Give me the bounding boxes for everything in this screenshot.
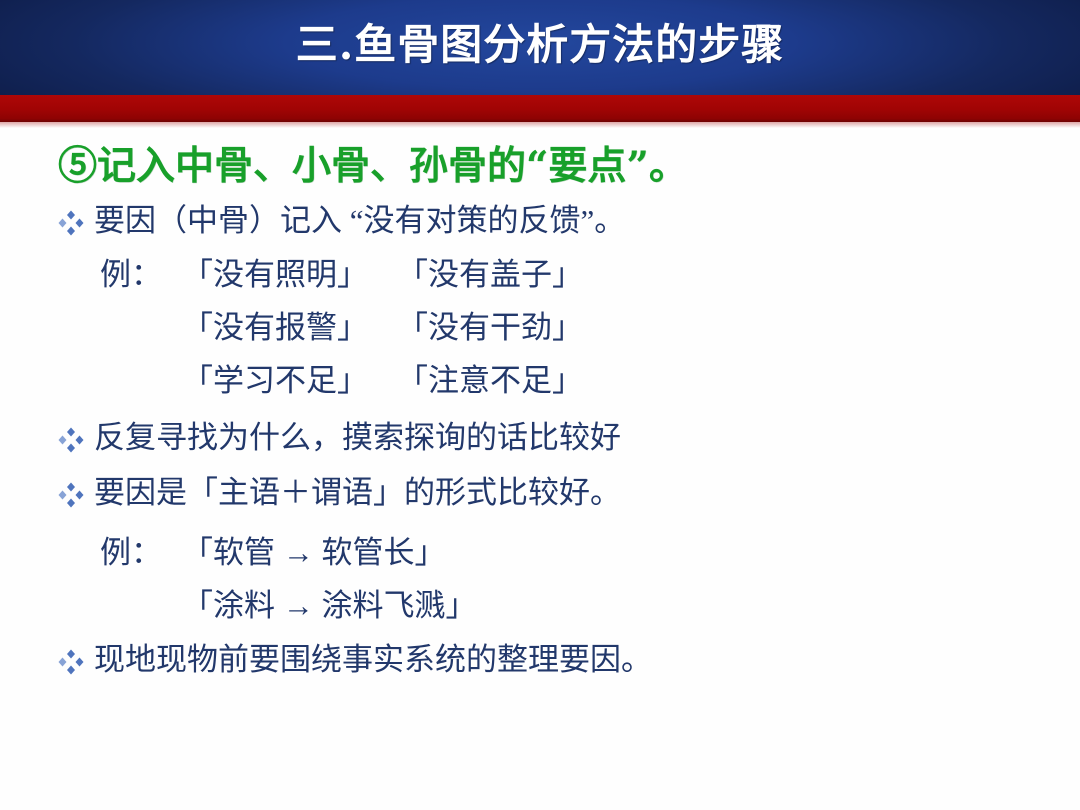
header-accent-bar bbox=[0, 95, 1080, 122]
slide-root: 三.鱼骨图分析方法的步骤 ⑤记入中骨、小骨、孙骨的“要点”。 要因（中骨）记入 … bbox=[0, 0, 1080, 810]
example-row-3: 「学习不足」「注意不足」 bbox=[100, 361, 583, 401]
example-row-1-col2: 「没有盖子」 bbox=[397, 255, 583, 295]
example-row-4: 例：「软管 → 软管长」 bbox=[100, 533, 446, 573]
example-row-3-col1: 「学习不足」 bbox=[182, 361, 397, 401]
example-label-2: 例： bbox=[100, 533, 182, 573]
example-row-1: 例：「没有照明」「没有盖子」 bbox=[100, 255, 583, 295]
diamond-cluster-icon bbox=[58, 473, 88, 507]
diamond-cluster-icon bbox=[58, 640, 88, 674]
bullet-item-3-label: 要因是「主语＋谓语」的形式比较好。 bbox=[94, 473, 621, 513]
bullet-item-4-label: 现地现物前要围绕事实系统的整理要因。 bbox=[94, 640, 652, 680]
example-row-3-col2: 「注意不足」 bbox=[397, 361, 583, 401]
example-row-2-col2: 「没有干劲」 bbox=[397, 308, 583, 348]
slide-content: ⑤记入中骨、小骨、孙骨的“要点”。 要因（中骨）记入 “没有对策的反馈”。 例：… bbox=[0, 128, 1080, 810]
bullet-item-4: 现地现物前要围绕事实系统的整理要因。 bbox=[58, 640, 652, 680]
example-label-1: 例： bbox=[100, 255, 182, 295]
example-row-1-col1: 「没有照明」 bbox=[182, 255, 397, 295]
bullet-item-2-label: 反复寻找为什么，摸索探询的话比较好 bbox=[94, 418, 621, 458]
bullet-item-1: 要因（中骨）记入 “没有对策的反馈”。 bbox=[58, 201, 625, 241]
example-row-5: 「涂料 → 涂料飞溅」 bbox=[100, 586, 477, 626]
bullet-item-2: 反复寻找为什么，摸索探询的话比较好 bbox=[58, 418, 621, 458]
diamond-cluster-icon bbox=[58, 201, 88, 235]
bullet-item-1-label: 要因（中骨）记入 “没有对策的反馈”。 bbox=[94, 201, 625, 241]
example-row-5-col1: 「涂料 → 涂料飞溅」 bbox=[182, 588, 477, 623]
diamond-cluster-icon bbox=[58, 418, 88, 452]
bullet-item-3: 要因是「主语＋谓语」的形式比较好。 bbox=[58, 473, 621, 513]
section-heading: ⑤记入中骨、小骨、孙骨的“要点”。 bbox=[58, 140, 688, 192]
example-row-2: 「没有报警」「没有干劲」 bbox=[100, 308, 583, 348]
example-row-2-col1: 「没有报警」 bbox=[182, 308, 397, 348]
example-row-4-col1: 「软管 → 软管长」 bbox=[182, 535, 446, 570]
page-title: 三.鱼骨图分析方法的步骤 bbox=[0, 17, 1080, 73]
